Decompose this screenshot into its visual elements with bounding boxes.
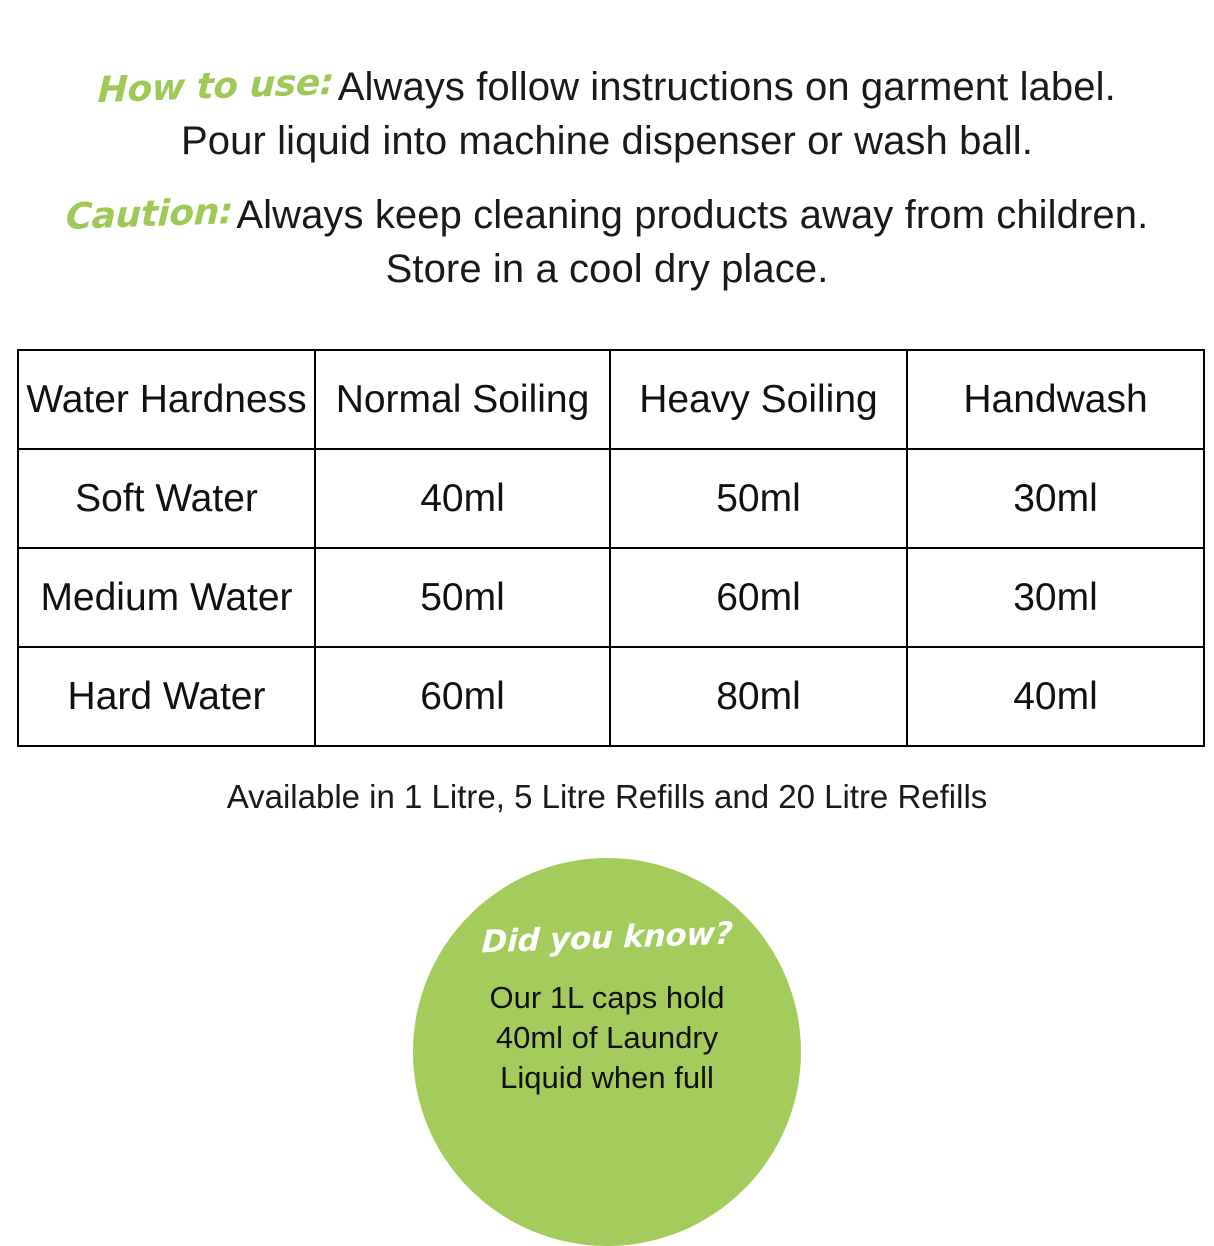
- dosage-table: Water Hardness Normal Soiling Heavy Soil…: [17, 349, 1205, 747]
- cell-soft-heavy: 50ml: [610, 449, 907, 548]
- badge-body-line-1: Our 1L caps hold: [413, 978, 801, 1018]
- cell-medium-heavy: 60ml: [610, 548, 907, 647]
- table-row: Hard Water 60ml 80ml 40ml: [18, 647, 1204, 746]
- availability-note: Available in 1 Litre, 5 Litre Refills an…: [0, 778, 1214, 816]
- how-to-use-line-1: How to use:Always follow instructions on…: [0, 60, 1214, 116]
- instructions-block: How to use:Always follow instructions on…: [0, 60, 1214, 296]
- cell-hardness-medium: Medium Water: [18, 548, 315, 647]
- cell-medium-normal: 50ml: [315, 548, 610, 647]
- table-row: Soft Water 40ml 50ml 30ml: [18, 449, 1204, 548]
- table-row: Medium Water 50ml 60ml 30ml: [18, 548, 1204, 647]
- cell-hard-handwash: 40ml: [907, 647, 1204, 746]
- cell-hardness-hard: Hard Water: [18, 647, 315, 746]
- table-header-normal-soiling: Normal Soiling: [315, 350, 610, 449]
- caution-line-1: Caution:Always keep cleaning products aw…: [0, 188, 1214, 244]
- how-to-use-text-1: Always follow instructions on garment la…: [338, 65, 1116, 109]
- cell-medium-handwash: 30ml: [907, 548, 1204, 647]
- table-header-heavy-soiling: Heavy Soiling: [610, 350, 907, 449]
- cell-hardness-soft: Soft Water: [18, 449, 315, 548]
- table-header-handwash: Handwash: [907, 350, 1204, 449]
- badge-body-line-3: Liquid when full: [413, 1058, 801, 1098]
- cell-hard-heavy: 80ml: [610, 647, 907, 746]
- cell-soft-normal: 40ml: [315, 449, 610, 548]
- how-to-use-label: How to use:: [97, 56, 335, 118]
- how-to-use-line-2: Pour liquid into machine dispenser or wa…: [0, 114, 1214, 168]
- table-header-water-hardness: Water Hardness: [18, 350, 315, 449]
- caution-label: Caution:: [65, 185, 234, 245]
- badge-body: Our 1L caps hold 40ml of Laundry Liquid …: [413, 978, 801, 1098]
- table-header-row: Water Hardness Normal Soiling Heavy Soil…: [18, 350, 1204, 449]
- cell-hard-normal: 60ml: [315, 647, 610, 746]
- did-you-know-badge: Did you know? Our 1L caps hold 40ml of L…: [413, 858, 801, 1246]
- badge-body-line-2: 40ml of Laundry: [413, 1018, 801, 1058]
- cell-soft-handwash: 30ml: [907, 449, 1204, 548]
- badge-title: Did you know?: [481, 916, 733, 961]
- caution-line-2: Store in a cool dry place.: [0, 242, 1214, 296]
- caution-text-1: Always keep cleaning products away from …: [236, 193, 1148, 237]
